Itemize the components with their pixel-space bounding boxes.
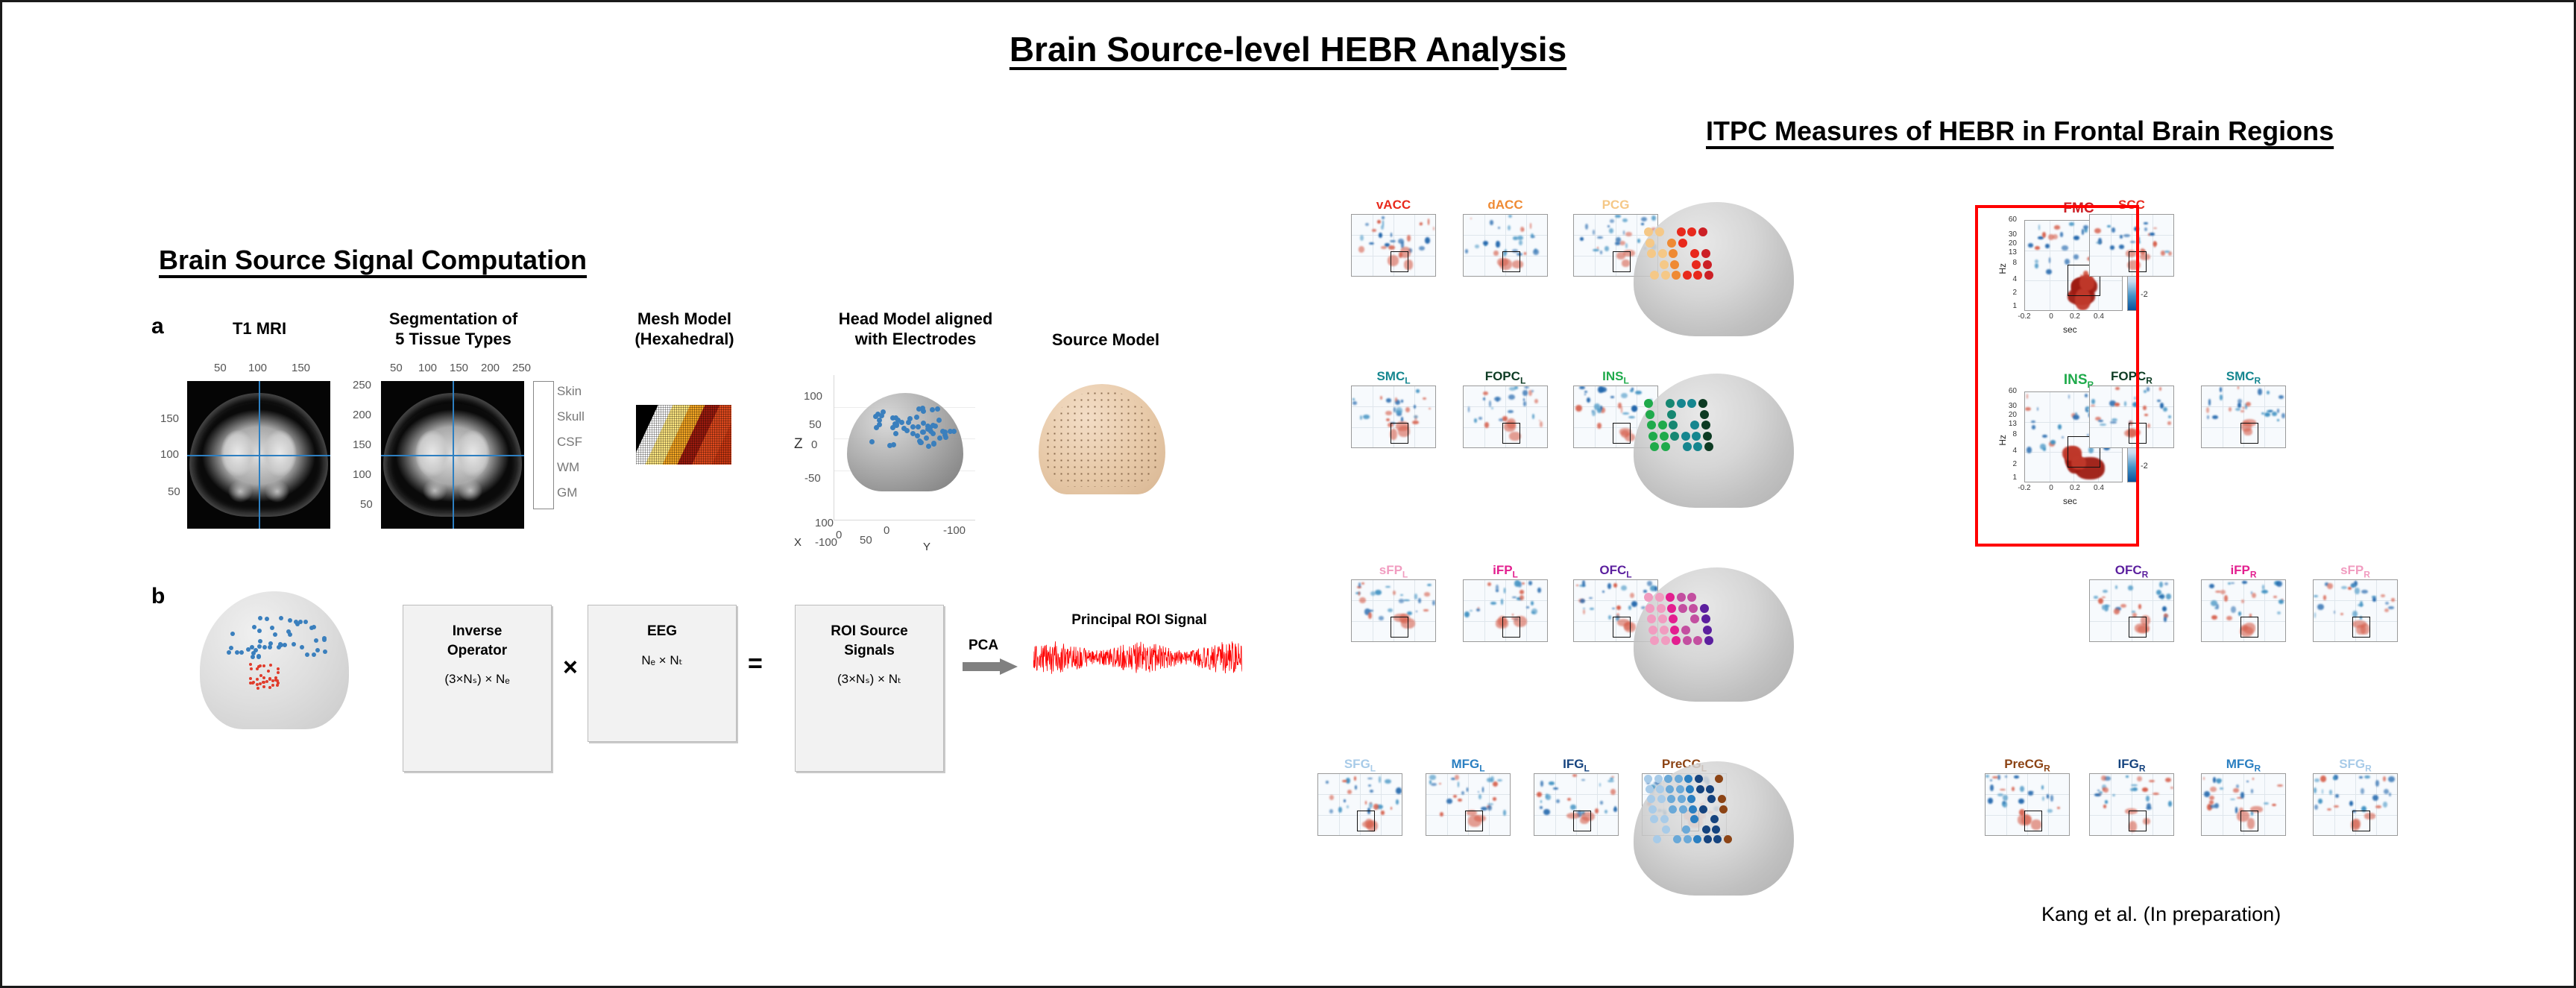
- head-y-axis-label: Y: [923, 541, 930, 553]
- tf-cluster: [1988, 798, 1993, 805]
- source-dipole: [277, 671, 280, 674]
- tf-cluster: [1370, 790, 1374, 793]
- roi-window-rect: [1465, 811, 1483, 831]
- roi-vertex-dot: [1713, 835, 1722, 843]
- tf-cluster: [1584, 394, 1587, 395]
- seg-y-tick-1: 200: [353, 409, 371, 421]
- electrode: [930, 407, 935, 412]
- roi-vertex-dot: [1724, 835, 1732, 843]
- tf-cluster: [2323, 595, 2326, 600]
- roi-vertex-dot: [1677, 399, 1686, 408]
- tf-cluster: [1363, 415, 1370, 418]
- roi-vertex-dot: [1698, 399, 1707, 408]
- tf-cluster: [1990, 784, 1994, 791]
- tf-cluster: [1583, 609, 1585, 614]
- tf-cluster: [2047, 794, 2048, 799]
- tf-cluster: [2238, 399, 2242, 404]
- tf-cluster: [2114, 608, 2119, 614]
- tf-cluster: [2229, 407, 2232, 412]
- tf-cluster: [1985, 775, 1989, 777]
- tf-cluster: [2277, 409, 2279, 412]
- roi-vertex-dot: [1693, 442, 1702, 451]
- roi-vertex-dot: [1669, 805, 1677, 814]
- roi-vertex-dot: [1678, 795, 1686, 803]
- source-dipole: [269, 664, 272, 667]
- roi-vertex-dot: [1687, 795, 1695, 803]
- roi-vertex-dot: [1647, 614, 1656, 623]
- mri-x-tick-1: 100: [248, 362, 267, 374]
- tf-cluster: [2220, 387, 2222, 392]
- tf-cluster: [2273, 596, 2276, 598]
- head-z-axis-label: Z: [794, 436, 803, 453]
- itpc-panel-label: SMCR: [2194, 369, 2293, 386]
- tf-cluster: [2318, 799, 2323, 804]
- tf-cluster: [1990, 779, 1992, 781]
- tf-cluster: [2384, 608, 2389, 612]
- eeg-dim: Nₑ × Nₜ: [641, 653, 682, 668]
- electrode: [256, 654, 261, 658]
- tf-cluster: [1385, 779, 1391, 784]
- roi-vertex-dot: [1690, 421, 1699, 430]
- tf-cluster: [2355, 588, 2360, 594]
- tf-cluster: [1391, 233, 1392, 237]
- tf-cluster: [2207, 415, 2208, 420]
- tf-cluster: [1625, 232, 1631, 236]
- tf-cluster: [1347, 790, 1352, 794]
- tf-cluster: [1432, 600, 1435, 605]
- roi-vertex-dot: [1699, 805, 1707, 814]
- tf-cluster: [1423, 609, 1429, 611]
- head-x-axis-label: X: [794, 536, 802, 549]
- tf-cluster: [1395, 397, 1398, 402]
- tf-cluster: [1595, 808, 1599, 814]
- tf-cluster: [1540, 800, 1543, 803]
- tf-cluster: [2208, 399, 2210, 406]
- tf-cluster: [2252, 778, 2254, 779]
- tf-cluster: [1458, 781, 1459, 787]
- roi-vertex-dot: [1667, 795, 1675, 803]
- source-dipole: [256, 678, 259, 681]
- tf-cluster: [1470, 610, 1473, 611]
- tf-cluster: [2277, 419, 2279, 421]
- tf-cluster: [2098, 598, 2103, 604]
- tf-cluster: [2168, 415, 2171, 418]
- tf-cluster: [1531, 390, 1534, 392]
- roi-window-rect: [1613, 251, 1631, 272]
- tf-cluster: [1622, 412, 1629, 415]
- tf-cluster: [1608, 615, 1611, 620]
- electrode: [931, 441, 936, 446]
- roi-window-rect: [2240, 811, 2258, 831]
- tf-cluster: [2314, 805, 2318, 810]
- tf-cluster: [2165, 778, 2170, 782]
- roi-vertex-dot: [1677, 593, 1686, 602]
- tf-cluster: [2314, 612, 2316, 618]
- tf-cluster: [1365, 223, 1369, 226]
- head-x-tick-0: -100: [815, 536, 837, 549]
- roi-vertex-dot: [1687, 593, 1696, 602]
- tf-cluster: [2279, 395, 2284, 400]
- caption-head-model: Head Model aligned with Electrodes: [804, 309, 1027, 350]
- tissue-legend-gm: GM: [557, 480, 585, 506]
- tissue-legend-skin: Skin: [557, 379, 585, 404]
- tf-cluster: [1594, 403, 1600, 409]
- tf-cluster: [1372, 229, 1376, 231]
- tf-cluster: [2314, 595, 2318, 597]
- tf-cluster: [1524, 386, 1529, 388]
- tf-cluster: [1512, 597, 1516, 598]
- caption-segmentation-line2: 5 Tissue Types: [353, 330, 554, 350]
- tf-cluster: [2158, 595, 2164, 598]
- tf-cluster: [1329, 795, 1334, 800]
- source-dipole: [277, 667, 280, 670]
- inverse-operator-dim: (3×Nₛ) × Nₑ: [444, 672, 509, 687]
- itpc-panel-label: FOPCL: [1456, 369, 1555, 386]
- tf-cluster: [2146, 807, 2152, 810]
- tf-cluster: [1475, 245, 1479, 248]
- tissue-legend: Skin Skull CSF WM GM: [557, 379, 585, 506]
- tf-cluster: [1520, 595, 1524, 601]
- roi-vertex-dot: [1701, 249, 1710, 258]
- tf-cluster: [1508, 410, 1514, 413]
- electrode: [916, 406, 922, 412]
- tf-cluster: [1508, 225, 1511, 230]
- tf-cluster: [2252, 593, 2256, 599]
- tissue-legend-wm: WM: [557, 455, 585, 480]
- tf-cluster: [1532, 414, 1534, 418]
- tf-cluster: [1483, 241, 1488, 245]
- electrode: [283, 643, 287, 647]
- roi-vertex-dot: [1687, 399, 1696, 408]
- tf-cluster: [1375, 590, 1381, 595]
- roi-vertex-dot: [1687, 227, 1696, 236]
- tf-cluster: [1390, 240, 1396, 242]
- tf-cluster: [2276, 581, 2282, 587]
- tf-cluster: [2167, 421, 2170, 425]
- tf-cluster: [1458, 799, 1461, 802]
- tf-cluster: [2228, 582, 2231, 585]
- roi-vertex-dot: [1701, 421, 1710, 430]
- roi-vertex-dot: [1644, 775, 1652, 783]
- tf-cluster: [1605, 810, 1607, 814]
- tf-cluster: [1423, 397, 1427, 400]
- tf-cluster: [2351, 585, 2356, 587]
- itpc-panel-label: MFGL: [1419, 757, 1517, 773]
- tf-cluster: [1587, 397, 1590, 403]
- roi-vertex-dot: [1693, 636, 1702, 645]
- tf-cluster: [2246, 781, 2249, 783]
- seg-x-tick-4: 250: [512, 362, 531, 374]
- tf-cluster: [2211, 615, 2217, 620]
- caption-head-line1: Head Model aligned: [804, 309, 1027, 330]
- tf-cluster: [1522, 390, 1528, 396]
- roi-vertex-dot: [1644, 227, 1653, 236]
- source-dipole: [262, 676, 265, 679]
- roi-vertex-dot: [1653, 835, 1661, 843]
- roi-vertex-dot: [1646, 239, 1654, 248]
- electrode: [925, 427, 930, 432]
- roi-vertex-dot: [1666, 399, 1675, 408]
- roi-window-rect: [1502, 423, 1520, 444]
- tf-cluster: [1607, 225, 1610, 227]
- tf-cluster: [2391, 598, 2394, 602]
- electrode: [258, 616, 262, 620]
- tf-cluster: [2166, 594, 2172, 600]
- tf-cluster: [1431, 783, 1437, 786]
- tf-cluster: [1393, 591, 1396, 595]
- tf-cluster: [1326, 781, 1328, 784]
- tf-cluster: [2360, 601, 2363, 607]
- electrode: [262, 645, 267, 649]
- tf-cluster: [2317, 604, 2324, 611]
- tf-cluster: [1419, 246, 1425, 251]
- tf-cluster: [2000, 789, 2006, 790]
- itpc-panel-label: SMCL: [1344, 369, 1443, 386]
- head-x-tick-1: 0: [884, 524, 889, 537]
- tf-cluster: [1514, 580, 1520, 587]
- seg-y-tick-2: 150: [353, 438, 371, 451]
- roi-vertex-dot: [1669, 249, 1678, 258]
- head-z-tick-3: -50: [804, 472, 821, 485]
- tf-cluster: [1628, 605, 1631, 610]
- tf-cluster: [2361, 590, 2368, 594]
- tf-cluster: [1478, 791, 1479, 793]
- roi-vertex-dot: [1661, 636, 1670, 645]
- caption-segmentation: Segmentation of 5 Tissue Types: [353, 309, 554, 350]
- tf-cluster: [2203, 777, 2205, 780]
- tf-cluster: [1400, 594, 1403, 597]
- tf-cluster: [1589, 597, 1593, 599]
- tf-cluster: [1407, 235, 1411, 241]
- roi-vertex-dot: [1650, 442, 1659, 451]
- roi-vertex-dot: [1655, 593, 1664, 602]
- electrode: [877, 418, 882, 423]
- tf-cluster: [1478, 794, 1481, 799]
- roi-vertex-dot: [1704, 442, 1713, 451]
- mri-y-tick-1: 100: [160, 448, 179, 461]
- tf-cluster: [1520, 590, 1525, 594]
- roi-vertex-dot: [1669, 614, 1678, 623]
- tf-cluster: [2264, 412, 2270, 417]
- roi-window-rect: [1391, 423, 1408, 444]
- tf-cluster: [2170, 787, 2173, 789]
- roi-vertex-dot: [1660, 260, 1669, 269]
- brain-surface-view-row-4: [1634, 761, 1794, 896]
- electrode: [322, 638, 327, 642]
- tf-cluster: [2217, 779, 2221, 784]
- electrode: [303, 620, 308, 624]
- tf-cluster: [1493, 797, 1496, 800]
- mri-x-tick-0: 50: [214, 362, 227, 374]
- tf-cluster: [2014, 775, 2019, 778]
- mri-x-tick-2: 150: [292, 362, 310, 374]
- tf-cluster: [1610, 396, 1614, 397]
- tf-cluster: [1470, 218, 1473, 219]
- head-z-tick-1: 50: [809, 418, 822, 431]
- tf-cluster: [2163, 407, 2167, 412]
- roi-window-rect: [1573, 811, 1591, 831]
- roi-vertex-dot: [1681, 432, 1690, 441]
- tf-cluster: [2057, 807, 2060, 809]
- tf-cluster: [2220, 590, 2226, 594]
- seg-x-tick-1: 100: [418, 362, 437, 374]
- pca-arrow-icon: [963, 658, 1018, 675]
- tf-cluster: [1414, 405, 1416, 409]
- roi-vertex-dot: [1712, 825, 1720, 834]
- roi-vertex-dot: [1669, 421, 1678, 430]
- tf-cluster: [1504, 588, 1505, 594]
- roi-vertex-dot: [1683, 271, 1692, 280]
- tf-cluster: [1360, 415, 1362, 420]
- tf-cluster: [1368, 784, 1371, 787]
- tf-cluster: [1597, 423, 1602, 430]
- tf-cluster: [1429, 775, 1436, 779]
- tissue-legend-skull: Skull: [557, 404, 585, 430]
- roi-vertex-dot: [1650, 636, 1659, 645]
- tf-cluster: [1540, 806, 1543, 809]
- tf-cluster: [1533, 249, 1539, 255]
- tf-cluster: [2327, 583, 2333, 590]
- roi-window-rect: [2129, 811, 2147, 831]
- source-dipole: [256, 683, 259, 686]
- right-section-title: ITPC Measures of HEBR in Frontal Brain R…: [1706, 116, 2334, 147]
- tf-cluster: [2277, 784, 2283, 787]
- tf-cluster: [1582, 580, 1585, 587]
- tf-cluster: [1464, 611, 1470, 617]
- brain-surface-view-row-2: [1634, 374, 1794, 508]
- tf-cluster: [2153, 241, 2156, 247]
- left-section-title: Brain Source Signal Computation: [159, 245, 587, 276]
- roi-vertex-dot: [1703, 626, 1712, 635]
- source-dipole: [271, 684, 274, 687]
- tf-cluster: [2216, 604, 2218, 608]
- roi-vertex-dot: [1695, 775, 1703, 783]
- tf-cluster: [2322, 789, 2323, 795]
- inverse-operator-line2: Operator: [447, 641, 507, 661]
- tf-cluster: [1398, 239, 1404, 244]
- tf-cluster: [2262, 585, 2264, 590]
- roi-vertex-dot: [1670, 626, 1679, 635]
- roi-vertex-dot: [1710, 815, 1719, 823]
- tf-cluster: [1482, 787, 1484, 793]
- tf-cluster: [2385, 602, 2389, 605]
- tf-cluster: [1610, 219, 1615, 223]
- roi-vertex-dot: [1644, 399, 1653, 408]
- tf-cluster: [2144, 227, 2147, 231]
- roi-vertex-dot: [1650, 271, 1659, 280]
- tf-cluster: [2153, 227, 2157, 229]
- tf-cluster: [1531, 601, 1534, 605]
- electrode: [230, 632, 235, 636]
- tf-cluster: [1416, 611, 1417, 612]
- tf-cluster: [1496, 585, 1499, 591]
- electrode: [951, 429, 957, 434]
- roi-window-rect: [1502, 617, 1520, 638]
- roi-vertex-dot: [1660, 815, 1669, 823]
- tf-cluster: [1570, 805, 1575, 810]
- seg-x-tick-0: 50: [390, 362, 403, 374]
- tf-cluster: [1401, 400, 1403, 403]
- electrode: [229, 646, 233, 650]
- roi-vertex-dot: [1661, 271, 1670, 280]
- roi-vertex-dot: [1692, 432, 1701, 441]
- tf-cluster: [2159, 387, 2161, 391]
- inverse-operator-line1: Inverse: [447, 622, 507, 641]
- tf-cluster: [1625, 243, 1628, 248]
- roi-vertex-dot: [1648, 805, 1657, 814]
- roi-window-rect: [2129, 617, 2147, 638]
- roi-vertex-dot: [1677, 227, 1686, 236]
- itpc-panel-label: dACC: [1456, 198, 1555, 213]
- tf-cluster: [2233, 788, 2238, 793]
- tf-cluster: [2209, 584, 2214, 588]
- tf-cluster: [2097, 790, 2100, 791]
- tf-cluster: [2137, 776, 2141, 781]
- tf-cluster: [1381, 246, 1387, 249]
- tf-cluster: [2281, 413, 2285, 418]
- multiply-symbol: ×: [563, 653, 578, 682]
- roi-window-rect: [1613, 617, 1631, 638]
- head-with-sources: [200, 591, 349, 729]
- tf-cluster: [2142, 787, 2148, 792]
- caption-source-model: Source Model: [1024, 330, 1188, 350]
- tf-cluster: [1424, 592, 1430, 596]
- roi-vertex-dot: [1667, 604, 1676, 613]
- roi-window-rect: [2240, 423, 2258, 444]
- tf-cluster: [1396, 799, 1399, 805]
- head-z-tick-2: 0: [811, 438, 817, 451]
- tf-cluster: [2168, 801, 2172, 807]
- tf-cluster: [1615, 215, 1621, 218]
- roi-vertex-dot: [1707, 795, 1716, 803]
- head-y-tick-0: 100: [815, 517, 834, 529]
- tf-cluster: [2147, 424, 2150, 429]
- tf-cluster: [1440, 812, 1444, 817]
- roi-vertex-dot: [1693, 271, 1702, 280]
- tf-cluster: [1386, 418, 1390, 421]
- itpc-panel-label: IFGL: [1527, 757, 1625, 773]
- tf-cluster: [2162, 606, 2167, 611]
- tf-cluster: [1483, 391, 1488, 395]
- roi-vertex-dot: [1673, 835, 1681, 843]
- roi-vertex-dot: [1667, 410, 1676, 419]
- tf-cluster: [1429, 780, 1432, 784]
- roi-vertex-dot: [1690, 815, 1698, 823]
- electrode: [901, 426, 907, 431]
- tf-cluster: [1414, 594, 1417, 600]
- tf-cluster: [2213, 777, 2216, 783]
- tf-cluster: [2144, 390, 2146, 393]
- tf-cluster: [2115, 585, 2117, 589]
- tf-cluster: [1597, 236, 1603, 239]
- tf-cluster: [2018, 799, 2024, 804]
- source-dipole: [262, 685, 265, 688]
- tf-cluster: [2212, 415, 2217, 419]
- itpc-panel-label: iFPL: [1456, 563, 1555, 579]
- tf-cluster: [1352, 398, 1355, 401]
- tf-cluster: [1487, 805, 1492, 811]
- tf-cluster: [1487, 582, 1491, 586]
- tf-cluster: [1427, 584, 1432, 586]
- tf-cluster: [1580, 599, 1585, 603]
- roi-vertex-dot: [1696, 785, 1704, 793]
- tf-cluster: [1347, 805, 1349, 809]
- tf-cluster: [1992, 776, 1998, 778]
- roi-vertex-dot: [1647, 421, 1656, 430]
- roi-line1: ROI Source: [831, 622, 907, 641]
- head-z-tick-0: 100: [804, 390, 822, 403]
- roi-window-rect: [1502, 251, 1520, 272]
